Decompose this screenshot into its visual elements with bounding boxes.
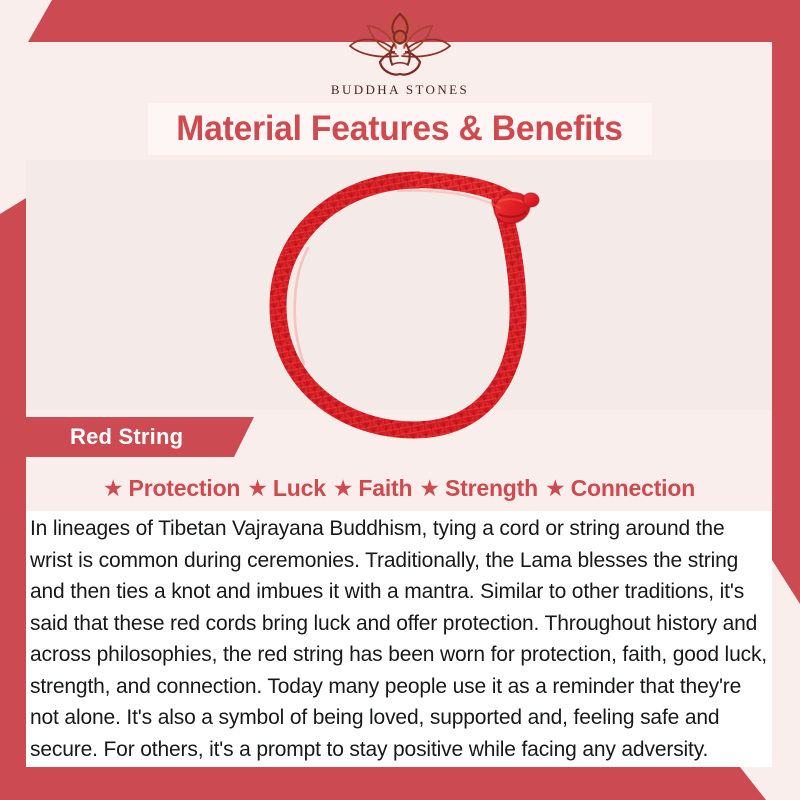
decor-left-strip — [0, 198, 26, 800]
benefit-item-luck: ★ Luck — [247, 475, 326, 502]
benefit-item-protection: ★ Protection — [103, 475, 240, 502]
benefit-item-connection: ★ Connection — [545, 475, 695, 502]
benefit-label: Protection — [129, 475, 241, 502]
benefit-label: Luck — [273, 475, 326, 502]
star-icon: ★ — [419, 477, 440, 500]
brand-logo: BUDDHA STONES — [0, 12, 800, 98]
description-text: In lineages of Tibetan Vajrayana Buddhis… — [26, 513, 778, 765]
star-icon: ★ — [545, 477, 566, 500]
decor-bottom-bar — [0, 767, 800, 800]
red-string-bracelet-image — [248, 158, 568, 450]
page-title-text: Material Features & Benefits — [177, 109, 624, 149]
material-ribbon: Red String — [26, 417, 254, 457]
benefit-label: Faith — [358, 475, 412, 502]
benefit-item-strength: ★ Strength — [419, 475, 538, 502]
benefits-list: ★ Protection ★ Luck ★ Faith ★ Strength ★… — [26, 465, 772, 511]
star-icon: ★ — [333, 477, 354, 500]
star-icon: ★ — [103, 477, 124, 500]
star-icon: ★ — [247, 477, 268, 500]
page-title: Material Features & Benefits — [148, 103, 652, 155]
benefit-item-faith: ★ Faith — [333, 475, 413, 502]
benefit-label: Strength — [445, 475, 538, 502]
material-features-poster: BUDDHA STONES Material Features & Benefi… — [0, 0, 800, 800]
material-ribbon-label: Red String — [26, 424, 183, 450]
brand-name: BUDDHA STONES — [331, 82, 469, 98]
lotus-meditation-icon — [336, 12, 464, 78]
benefit-label: Connection — [571, 475, 696, 502]
